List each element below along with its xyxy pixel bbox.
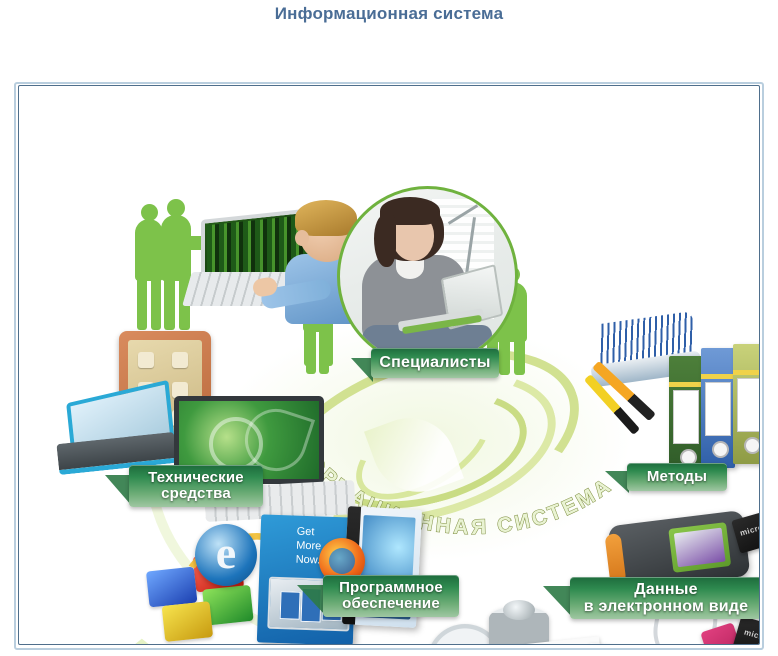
page-title: Информационная система (0, 4, 778, 24)
binder-green (669, 356, 703, 476)
win7-line-3: Now. (295, 553, 321, 568)
label-wedge-methods (605, 471, 629, 493)
cd-spindle (489, 606, 549, 645)
label-electronic-data[interactable]: Данные в электронном виде (570, 577, 760, 619)
microsd-label-2: microSD (738, 622, 760, 645)
label-specialists-text: Специалисты (379, 354, 490, 371)
label-specialists[interactable]: Специалисты (371, 348, 499, 378)
label-technical-line-1: Технические (148, 469, 244, 486)
blue-convertible-laptop (51, 380, 179, 476)
label-data-line-2: в электронном виде (584, 598, 748, 615)
label-wedge-software (297, 585, 325, 615)
specialist-photo (337, 186, 518, 367)
win7-line-1: Get (296, 526, 322, 541)
diagram-frame: ИНФОРМАЦИОННАЯ СИСТЕМА (18, 85, 760, 645)
label-technical-line-2: средства (161, 485, 231, 502)
label-software-line-2: обеспечение (342, 595, 440, 612)
win7-line-2: More (296, 539, 322, 554)
label-software-line-1: Программное (339, 579, 443, 596)
label-wedge-data (543, 586, 573, 618)
label-methods[interactable]: Методы (627, 463, 727, 491)
label-wedge-technical (105, 475, 131, 505)
label-software[interactable]: Программное обеспечение (323, 575, 459, 617)
diagram-stage: ИНФОРМАЦИОННАЯ СИСТЕМА (19, 86, 759, 644)
label-data-line-1: Данные (634, 581, 697, 598)
microsd-label-1: microSD (736, 515, 760, 543)
internet-explorer-icon (195, 524, 257, 586)
binder-blue (701, 348, 735, 468)
label-wedge-specialists (351, 358, 373, 382)
binder-olive (733, 344, 760, 464)
label-technical-means[interactable]: Технические средства (129, 465, 263, 507)
label-methods-text: Методы (647, 469, 707, 485)
